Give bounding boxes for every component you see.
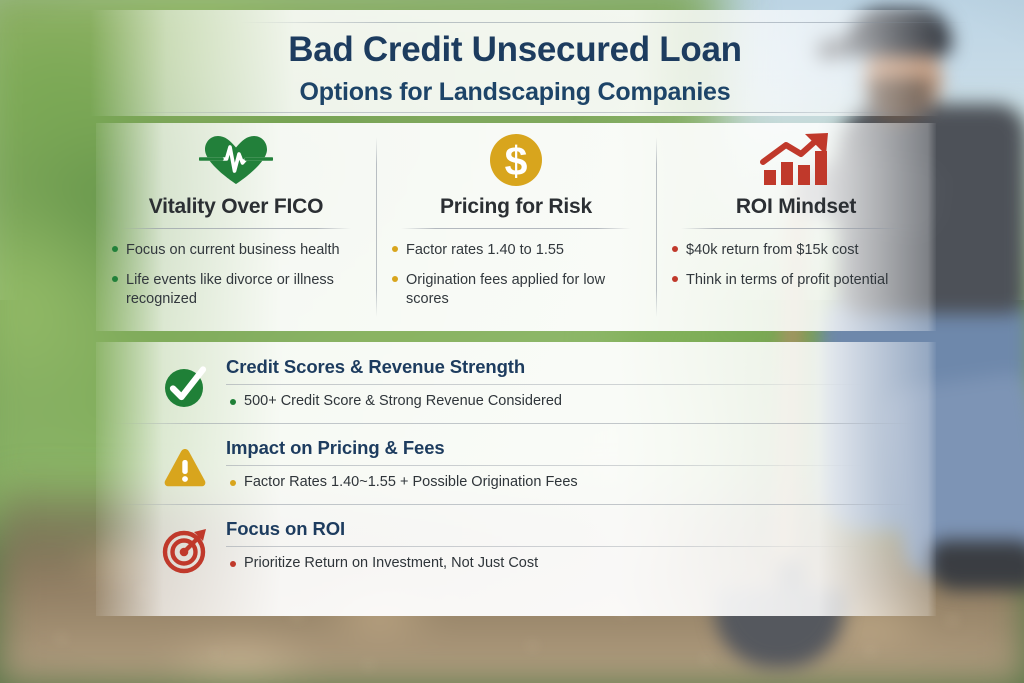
row-rule [226, 384, 866, 385]
row-heading: Focus on ROI [226, 518, 936, 540]
row-heading: Impact on Pricing & Fees [226, 437, 936, 459]
row-rule [226, 546, 866, 547]
title-panel: Bad Credit Unsecured Loan Options for La… [90, 10, 940, 116]
infographic-stage: Bad Credit Unsecured Loan Options for La… [0, 0, 1024, 683]
list-item-text: Life events like divorce or illness reco… [126, 272, 334, 307]
dollar-coin-icon: $ [376, 131, 656, 189]
column-roi-mindset: ROI Mindset $40k return from $15k cost T… [656, 123, 936, 331]
row-subtext-label: Prioritize Return on Investment, Not Jus… [244, 555, 538, 571]
check-circle-icon [162, 364, 208, 410]
list-item: Origination fees applied for low scores [406, 271, 642, 309]
row-subtext: Factor Rates 1.40~1.55 + Possible Origin… [244, 474, 936, 490]
row-subtext: Prioritize Return on Investment, Not Jus… [244, 555, 936, 571]
list-item: Life events like divorce or illness reco… [126, 271, 362, 309]
bullet-dot [392, 246, 398, 252]
heart-pulse-icon [96, 131, 376, 189]
feature-columns-panel: Vitality Over FICO Focus on current busi… [96, 123, 936, 331]
row-impact-on-pricing-fees: Impact on Pricing & Fees Factor Rates 1.… [96, 423, 936, 504]
list-item-text: Think in terms of profit potential [686, 272, 888, 288]
page-title: Bad Credit Unsecured Loan [90, 30, 940, 70]
bullet-dot [230, 561, 236, 567]
warning-triangle-icon [162, 445, 208, 491]
row-focus-on-roi: Focus on ROI Prioritize Return on Invest… [96, 504, 936, 585]
column-rule [121, 228, 351, 229]
bullet-dot [112, 246, 118, 252]
list-item-text: Factor rates 1.40 to 1.55 [406, 242, 564, 258]
row-subtext-label: 500+ Credit Score & Strong Revenue Consi… [244, 393, 562, 409]
bullet-dot [672, 276, 678, 282]
bullet-dot [230, 480, 236, 486]
column-pricing-for-risk: $ Pricing for Risk Factor rates 1.40 to … [376, 123, 656, 331]
title-top-rule [240, 22, 970, 23]
list-item-text: $40k return from $15k cost [686, 242, 858, 258]
row-subtext-label: Factor Rates 1.40~1.55 + Possible Origin… [244, 474, 578, 490]
list-item-text: Origination fees applied for low scores [406, 272, 605, 307]
bullet-dot [230, 399, 236, 405]
summary-rows-panel: Credit Scores & Revenue Strength 500+ Cr… [96, 342, 936, 616]
list-item: $40k return from $15k cost [686, 241, 922, 260]
column-rule [401, 228, 631, 229]
svg-text:$: $ [505, 138, 528, 184]
column-bullet-list: Factor rates 1.40 to 1.55 Origination fe… [376, 241, 656, 309]
bullet-dot [392, 276, 398, 282]
bar-chart-growth-icon [656, 131, 936, 189]
column-bullet-list: $40k return from $15k cost Think in term… [656, 241, 936, 290]
column-heading: ROI Mindset [656, 195, 936, 219]
list-item-text: Focus on current business health [126, 242, 340, 258]
row-heading: Credit Scores & Revenue Strength [226, 356, 936, 378]
target-arrow-icon [162, 526, 208, 572]
bullet-dot [672, 246, 678, 252]
column-rule [681, 228, 911, 229]
title-bottom-rule [120, 112, 910, 113]
list-item: Think in terms of profit potential [686, 271, 922, 290]
column-heading: Vitality Over FICO [96, 195, 376, 219]
row-rule [226, 465, 866, 466]
row-subtext: 500+ Credit Score & Strong Revenue Consi… [244, 393, 936, 409]
bullet-dot [112, 276, 118, 282]
row-credit-scores-revenue-strength: Credit Scores & Revenue Strength 500+ Cr… [96, 342, 936, 423]
column-bullet-list: Focus on current business health Life ev… [96, 241, 376, 309]
column-heading: Pricing for Risk [376, 195, 656, 219]
column-vitality-over-fico: Vitality Over FICO Focus on current busi… [96, 123, 376, 331]
list-item: Focus on current business health [126, 241, 362, 260]
page-subtitle: Options for Landscaping Companies [90, 78, 940, 107]
list-item: Factor rates 1.40 to 1.55 [406, 241, 642, 260]
